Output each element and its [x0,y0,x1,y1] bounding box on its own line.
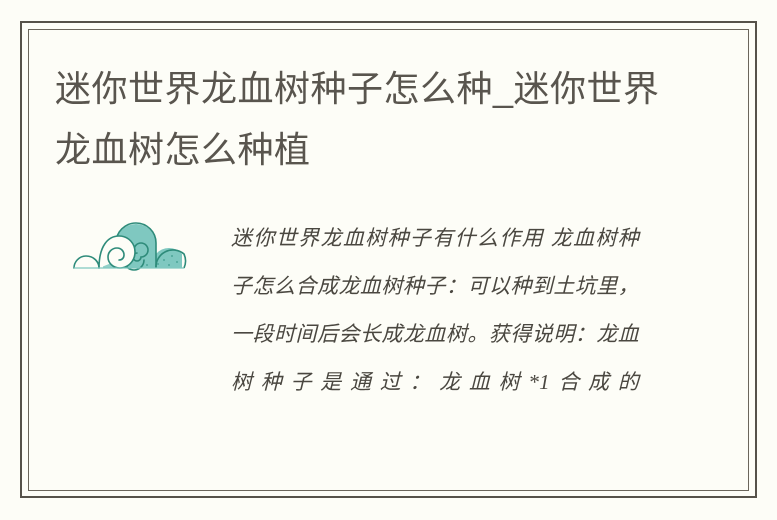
article-body: 迷你世界龙血树种子有什么作用 龙血树种子怎么合成龙血树种子：可以种到土坑里，一段… [231,214,639,406]
chinese-cloud-icon [72,210,187,278]
article-card: 迷你世界龙血树种子怎么种_迷你世界龙血树怎么种植 [0,0,777,520]
page-title: 迷你世界龙血树种子怎么种_迷你世界龙血树怎么种植 [55,58,685,180]
